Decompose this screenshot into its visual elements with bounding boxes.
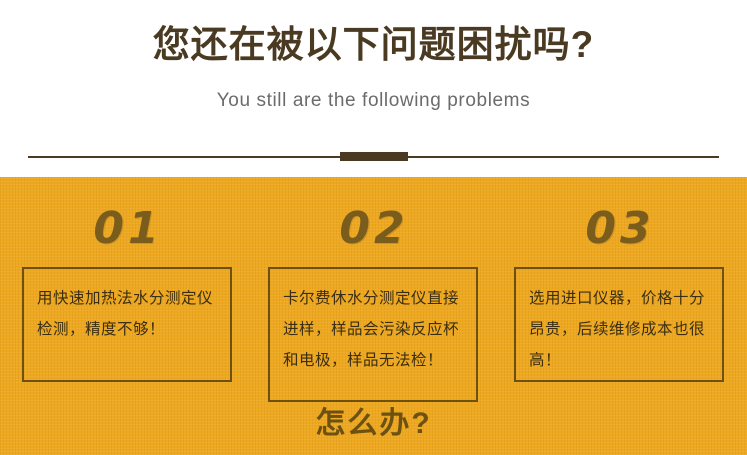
problem-item-03: 03 选用进口仪器，价格十分昂贵，后续维修成本也很高！ — [514, 205, 726, 382]
problem-number: 02 — [268, 205, 480, 253]
problem-text: 选用进口仪器，价格十分昂贵，后续维修成本也很高！ — [529, 283, 709, 376]
problem-number: 01 — [22, 205, 234, 253]
footer-question: 怎么办? — [0, 405, 747, 443]
problems-panel: 01 用快速加热法水分测定仪检测，精度不够！ 02 卡尔费休水分测定仪直接进样，… — [0, 177, 747, 455]
problem-box: 卡尔费休水分测定仪直接进样，样品会污染反应杯和电极，样品无法检！ — [268, 267, 478, 402]
promo-banner: 您还在被以下问题困扰吗? You still are the following… — [0, 0, 747, 455]
problem-box: 选用进口仪器，价格十分昂贵，后续维修成本也很高！ — [514, 267, 724, 382]
problem-text: 卡尔费休水分测定仪直接进样，样品会污染反应杯和电极，样品无法检！ — [283, 283, 463, 376]
divider — [0, 152, 747, 162]
problem-item-01: 01 用快速加热法水分测定仪检测，精度不够！ — [22, 205, 234, 382]
problem-item-02: 02 卡尔费休水分测定仪直接进样，样品会污染反应杯和电极，样品无法检！ — [268, 205, 480, 402]
page-subtitle: You still are the following problems — [0, 88, 747, 114]
problem-number: 03 — [514, 205, 726, 253]
divider-center-block — [340, 152, 408, 161]
problem-box: 用快速加热法水分测定仪检测，精度不够！ — [22, 267, 232, 382]
page-title: 您还在被以下问题困扰吗? — [0, 22, 747, 68]
header-section: 您还在被以下问题困扰吗? You still are the following… — [0, 0, 747, 177]
problem-text: 用快速加热法水分测定仪检测，精度不够！ — [37, 283, 217, 345]
